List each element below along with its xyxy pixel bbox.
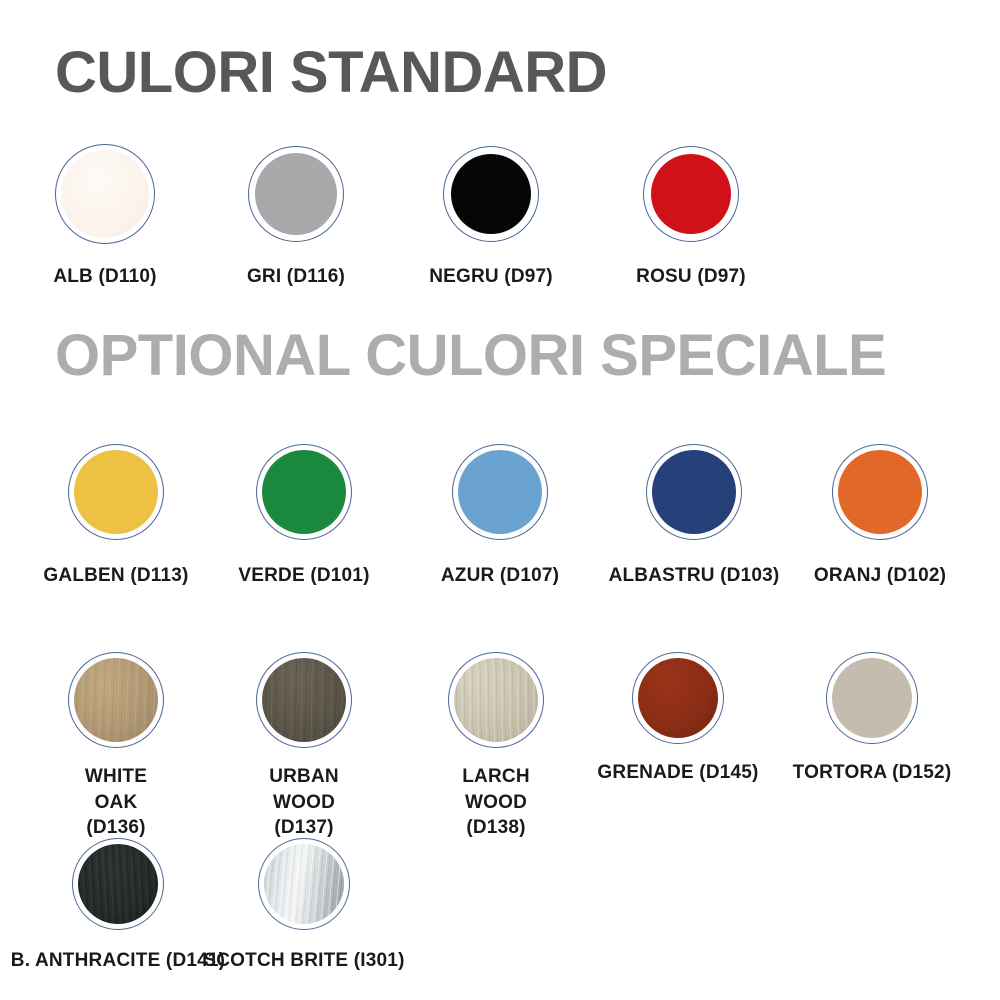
swatch-color-disc-larch-wood [454,658,538,742]
swatch-color-disc-tortora [832,658,912,738]
color-swatch-white-oak[interactable]: WHITEOAK (D136) [68,652,164,748]
swatch-color-disc-urban-wood [262,658,346,742]
swatch-label-scotch-brite: SCOTCH BRITE (I301) [203,948,404,974]
color-swatch-tortora[interactable]: TORTORA (D152) [826,652,918,744]
color-swatch-rosu[interactable]: ROSU (D97) [643,146,739,242]
color-swatch-larch-wood[interactable]: LARCHWOOD (D138) [448,652,544,748]
swatch-label-negru: NEGRU (D97) [429,264,553,290]
swatch-color-disc-albastru [652,450,736,534]
swatch-color-disc-verde [262,450,346,534]
swatch-label-azur: AZUR (D107) [441,563,559,589]
swatch-label-albastru: ALBASTRU (D103) [609,563,780,589]
color-swatch-oranj[interactable]: ORANJ (D102) [832,444,928,540]
swatch-color-disc-white-oak [74,658,158,742]
swatch-label-urban-wood: URBANWOOD (D137) [269,764,339,841]
color-swatch-verde[interactable]: VERDE (D101) [256,444,352,540]
page-title-special-colors: OPTIONAL CULORI SPECIALE [55,327,886,385]
swatch-color-disc-anthracite [78,844,158,924]
color-swatch-gri[interactable]: GRI (D116) [248,146,344,242]
swatch-color-disc-negru [451,154,531,234]
swatch-label-grenade: GRENADE (D145) [597,760,758,786]
swatch-label-rosu: ROSU (D97) [636,264,746,290]
swatch-color-disc-grenade [638,658,718,738]
swatch-color-disc-gri [255,153,337,235]
swatch-label-alb: ALB (D110) [53,264,156,290]
color-swatch-alb[interactable]: ALB (D110) [55,144,155,244]
swatch-label-white-oak: WHITEOAK (D136) [85,764,147,841]
swatch-color-disc-galben [74,450,158,534]
swatch-label-larch-wood: LARCHWOOD (D138) [462,764,530,841]
swatch-color-disc-rosu [651,154,731,234]
swatch-label-gri: GRI (D116) [247,264,345,290]
page-title-standard-colors: CULORI STANDARD [55,44,607,102]
swatch-color-disc-oranj [838,450,922,534]
color-swatch-negru[interactable]: NEGRU (D97) [443,146,539,242]
swatch-color-disc-scotch-brite [264,844,344,924]
swatch-label-verde: VERDE (D101) [238,563,369,589]
color-swatch-grenade[interactable]: GRENADE (D145) [632,652,724,744]
color-swatch-galben[interactable]: GALBEN (D113) [68,444,164,540]
color-swatch-anthracite[interactable]: B. ANTHRACITE (D141) [72,838,164,930]
color-swatch-urban-wood[interactable]: URBANWOOD (D137) [256,652,352,748]
color-swatch-albastru[interactable]: ALBASTRU (D103) [646,444,742,540]
swatch-label-oranj: ORANJ (D102) [814,563,946,589]
swatch-color-disc-alb [61,150,149,238]
color-swatch-scotch-brite[interactable]: SCOTCH BRITE (I301) [258,838,350,930]
color-swatch-azur[interactable]: AZUR (D107) [452,444,548,540]
swatch-label-galben: GALBEN (D113) [43,563,188,589]
color-chart-page: CULORI STANDARD OPTIONAL CULORI SPECIALE… [0,0,1000,1000]
swatch-label-tortora: TORTORA (D152) [793,760,952,786]
swatch-label-anthracite: B. ANTHRACITE (D141) [11,948,225,974]
swatch-color-disc-azur [458,450,542,534]
